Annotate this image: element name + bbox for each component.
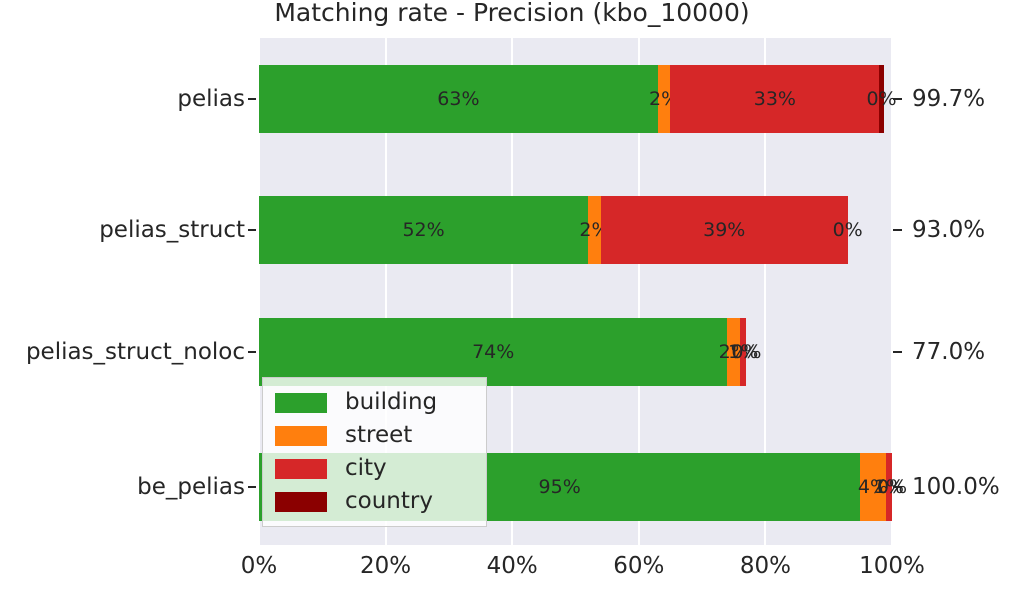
x-tick-label: 40% (487, 553, 538, 579)
legend-swatch-icon (275, 459, 327, 479)
bar-segment-label: 33% (754, 88, 796, 110)
bar-segment-street: 2% (658, 65, 671, 133)
bar-segment-building: 63% (259, 65, 658, 133)
bar-segment-label: 63% (437, 88, 479, 110)
right-tick-mark (893, 229, 902, 231)
legend-item-city[interactable]: city (275, 452, 476, 485)
bar-segment-street: 4% (860, 453, 885, 521)
bar-segment-label: 39% (703, 219, 745, 241)
bar-segment-label: 95% (539, 476, 581, 498)
right-tick-label: 93.0% (912, 217, 985, 243)
legend-swatch-icon (275, 492, 327, 512)
legend-item-building[interactable]: building (275, 386, 476, 419)
bar-segment-country: 0% (879, 65, 883, 133)
y-tick-mark (248, 98, 256, 100)
x-tick-label: 60% (613, 553, 664, 579)
bar-segment-city: 1% (740, 318, 746, 386)
bar-segment-label: 4% (858, 476, 888, 498)
right-tick-label: 99.7% (912, 86, 985, 112)
y-axis-labels: peliaspelias_structpelias_struct_nolocbe… (0, 38, 259, 545)
x-tick-label: 80% (740, 553, 791, 579)
y-tick-mark (248, 229, 256, 231)
legend-label: street (345, 424, 412, 447)
chart-legend: buildingstreetcitycountry (262, 377, 487, 527)
legend-swatch-icon (275, 393, 327, 413)
chart-title: Matching rate - Precision (kbo_10000) (0, 0, 1024, 27)
right-tick-mark (893, 486, 902, 488)
y-tick-label: pelias_struct_noloc (26, 339, 245, 365)
bar-segment-building: 74% (259, 318, 727, 386)
right-tick-mark (893, 351, 902, 353)
bar-row: 63%2%33%0% (259, 65, 884, 133)
legend-item-street[interactable]: street (275, 419, 476, 452)
right-tick-label: 77.0% (912, 339, 985, 365)
bar-segment-label: 74% (472, 341, 514, 363)
right-tick-mark (893, 98, 902, 100)
x-tick-label: 0% (241, 553, 278, 579)
bar-segment-city: 33% (670, 65, 879, 133)
bar-segment-building: 52% (259, 196, 588, 264)
x-tick-label: 100% (859, 553, 925, 579)
y-tick-label: pelias_struct (99, 217, 245, 243)
x-axis-labels: 0%20%40%60%80%100% (0, 545, 1024, 594)
legend-label: city (345, 457, 387, 480)
y-tick-mark (248, 351, 256, 353)
bar-segment-label: 52% (402, 219, 444, 241)
bar-segment-city: 39% (601, 196, 848, 264)
y-tick-label: pelias (177, 86, 245, 112)
legend-label: country (345, 490, 433, 513)
x-tick-label: 20% (360, 553, 411, 579)
bar-row: 74%2%1%0% (259, 318, 746, 386)
right-tick-label: 100.0% (912, 474, 1000, 500)
y-tick-label: be_pelias (137, 474, 245, 500)
right-axis-totals: 99.7%93.0%77.0%100.0% (892, 38, 1024, 545)
bar-segment-street: 2% (588, 196, 601, 264)
y-tick-mark (248, 486, 256, 488)
chart-figure: Matching rate - Precision (kbo_10000) 63… (0, 0, 1024, 594)
bar-row: 52%2%39%0% (259, 196, 848, 264)
legend-item-country[interactable]: country (275, 485, 476, 518)
legend-label: building (345, 391, 437, 414)
bar-segment-street: 2% (727, 318, 740, 386)
legend-swatch-icon (275, 426, 327, 446)
